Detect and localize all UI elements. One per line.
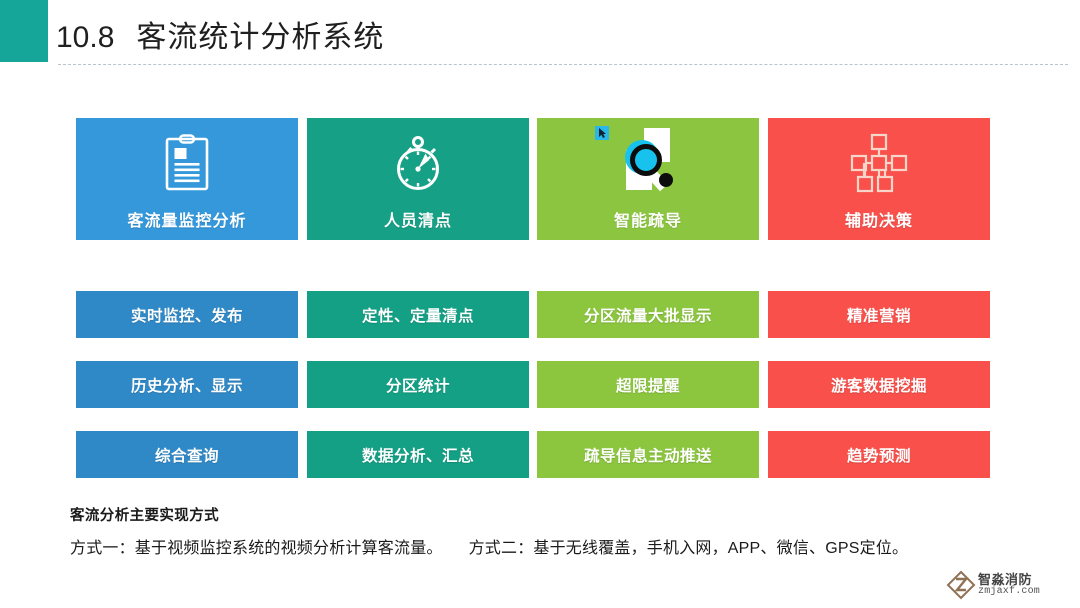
- feature-card-row: 客流量监控分析: [76, 118, 991, 240]
- capability-grid: 实时监控、发布 历史分析、显示 综合查询 定性、定量清点 分区统计 数据分析、汇…: [76, 291, 991, 478]
- feature-card-people-counting[interactable]: 人员清点: [307, 118, 529, 240]
- feature-card-label: 智能疏导: [537, 207, 759, 231]
- capability-pill[interactable]: 超限提醒: [537, 361, 759, 408]
- footer-notes: 客流分析主要实现方式 方式一：基于视频监控系统的视频分析计算客流量。方式二：基于…: [70, 504, 1030, 558]
- header-divider: [58, 64, 1068, 65]
- feature-card-label: 人员清点: [307, 207, 529, 231]
- magnifier-search-icon: [537, 126, 759, 200]
- capability-pill[interactable]: 历史分析、显示: [76, 361, 298, 408]
- capability-pill[interactable]: 数据分析、汇总: [307, 431, 529, 478]
- feature-card-label: 客流量监控分析: [76, 207, 298, 231]
- header-accent-bar: [0, 0, 48, 62]
- section-number: 10.8: [56, 21, 114, 54]
- capability-pill[interactable]: 分区统计: [307, 361, 529, 408]
- stopwatch-icon: [307, 126, 529, 200]
- page-header: 10.8客流统计分析系统: [0, 0, 1080, 68]
- feature-card-passenger-flow-monitoring[interactable]: 客流量监控分析: [76, 118, 298, 240]
- network-nodes-icon: [768, 126, 990, 200]
- clipboard-document-icon: [76, 126, 298, 200]
- watermark-url: zmjaxf.com: [978, 587, 1040, 598]
- capability-pill[interactable]: 精准营销: [768, 291, 990, 338]
- watermark: 智淼消防 zmjaxf.com: [946, 568, 1072, 602]
- capability-pill[interactable]: 游客数据挖掘: [768, 361, 990, 408]
- capability-pill[interactable]: 综合查询: [76, 431, 298, 478]
- footer-heading: 客流分析主要实现方式: [70, 504, 1030, 525]
- feature-card-label: 辅助决策: [768, 207, 990, 231]
- feature-card-decision-support[interactable]: 辅助决策: [768, 118, 990, 240]
- capability-pill[interactable]: 疏导信息主动推送: [537, 431, 759, 478]
- watermark-brand-name: 智淼消防: [978, 573, 1040, 587]
- feature-card-smart-guidance[interactable]: 智能疏导: [537, 118, 759, 240]
- page-title: 10.8客流统计分析系统: [56, 12, 384, 56]
- watermark-text: 智淼消防 zmjaxf.com: [978, 573, 1040, 597]
- capability-pill[interactable]: 趋势预测: [768, 431, 990, 478]
- brand-logo-icon: [946, 570, 976, 600]
- section-title-text: 客流统计分析系统: [136, 21, 384, 54]
- capability-pill[interactable]: 分区流量大批显示: [537, 291, 759, 338]
- capability-pill[interactable]: 定性、定量清点: [307, 291, 529, 338]
- capability-pill[interactable]: 实时监控、发布: [76, 291, 298, 338]
- method-two-text: 方式二：基于无线覆盖，手机入网，APP、微信、GPS定位。: [469, 540, 909, 557]
- footer-methods: 方式一：基于视频监控系统的视频分析计算客流量。方式二：基于无线覆盖，手机入网，A…: [70, 534, 1030, 558]
- method-one-text: 方式一：基于视频监控系统的视频分析计算客流量。: [70, 540, 443, 557]
